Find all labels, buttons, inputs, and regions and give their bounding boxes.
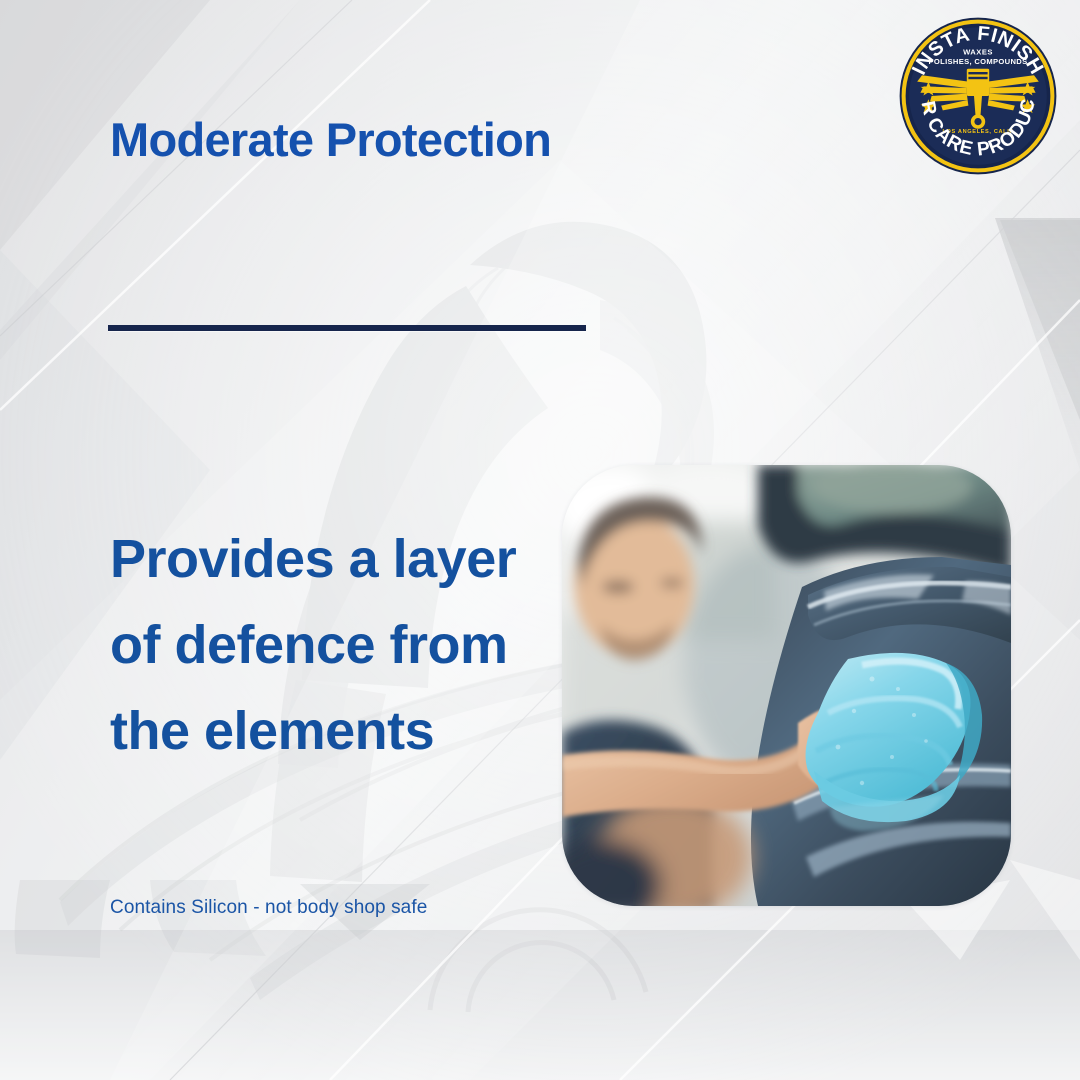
logo-subline-2: POLISHES, COMPOUNDS xyxy=(929,57,1028,66)
page-title: Moderate Protection xyxy=(110,112,551,167)
insta-finish-logo[interactable]: INSTA FINISH WAXES POLISHES, COMPOUNDS xyxy=(898,16,1058,176)
headline-line-3: the elements xyxy=(110,688,550,774)
product-photo xyxy=(562,465,1011,906)
poster-canvas: INSTA FINISH WAXES POLISHES, COMPOUNDS xyxy=(0,0,1080,1080)
logo-subline-1: WAXES xyxy=(963,47,993,56)
headline: Provides a layer of defence from the ele… xyxy=(110,516,550,774)
headline-line-2: of defence from xyxy=(110,602,550,688)
section-divider xyxy=(108,325,586,331)
footnote-disclaimer: Contains Silicon - not body shop safe xyxy=(110,897,427,919)
headline-line-1: Provides a layer xyxy=(110,516,550,602)
detailer-polishing-car-illustration xyxy=(562,465,1011,906)
